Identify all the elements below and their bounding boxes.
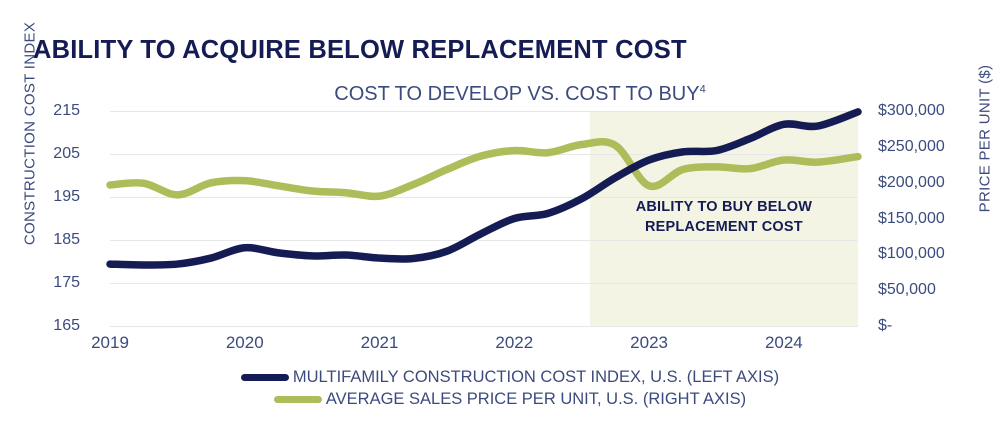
y-axis-right-tick-label: $100,000 [878, 245, 978, 263]
y-axis-right-title: PRICE PER UNIT ($) [977, 14, 994, 264]
y-axis-right-tick-label: $300,000 [878, 102, 978, 120]
x-axis-tick-label: 2023 [609, 333, 689, 353]
y-axis-right-tick-label: $200,000 [878, 174, 978, 192]
y-axis-right-tick-label: $- [878, 317, 978, 335]
region-annotation-line1: ABILITY TO BUY BELOW [590, 198, 858, 218]
legend-item-construction-cost-index: MULTIFAMILY CONSTRUCTION COST INDEX, U.S… [0, 368, 1000, 387]
gridline [110, 326, 858, 327]
series-line-construction-cost-index [110, 112, 858, 265]
chart-subtitle-superscript: 4 [700, 83, 706, 95]
y-axis-right-tick-label: $250,000 [878, 138, 978, 156]
region-annotation-line2: REPLACEMENT COST [590, 218, 858, 238]
legend-swatch-navy [241, 374, 289, 381]
chart-legend: MULTIFAMILY CONSTRUCTION COST INDEX, U.S… [0, 368, 1000, 412]
legend-label-construction-cost-index: MULTIFAMILY CONSTRUCTION COST INDEX, U.S… [293, 368, 779, 387]
x-axis-tick-label: 2021 [340, 333, 420, 353]
series-line-average-sales-price [110, 142, 858, 197]
x-axis-tick-label: 2022 [474, 333, 554, 353]
region-annotation: ABILITY TO BUY BELOW REPLACEMENT COST [590, 198, 858, 237]
chart-subtitle-text: COST TO DEVELOP VS. COST TO BUY [334, 83, 699, 105]
y-axis-right-tick-label: $150,000 [878, 210, 978, 228]
legend-item-average-sales-price: AVERAGE SALES PRICE PER UNIT, U.S. (RIGH… [0, 390, 1000, 409]
chart-subtitle: COST TO DEVELOP VS. COST TO BUY4 [0, 83, 1000, 106]
y-axis-right-tick-label: $50,000 [878, 281, 978, 299]
x-axis-tick-label: 2020 [205, 333, 285, 353]
y-axis-left-tick-label: 175 [20, 274, 80, 292]
legend-swatch-green [274, 396, 322, 403]
x-axis-tick-label: 2019 [70, 333, 150, 353]
page-title: ABILITY TO ACQUIRE BELOW REPLACEMENT COS… [33, 36, 687, 65]
legend-label-average-sales-price: AVERAGE SALES PRICE PER UNIT, U.S. (RIGH… [326, 390, 746, 409]
y-axis-left-title: CONSTRUCTION COST INDEX [22, 0, 39, 269]
x-axis-tick-label: 2024 [744, 333, 824, 353]
